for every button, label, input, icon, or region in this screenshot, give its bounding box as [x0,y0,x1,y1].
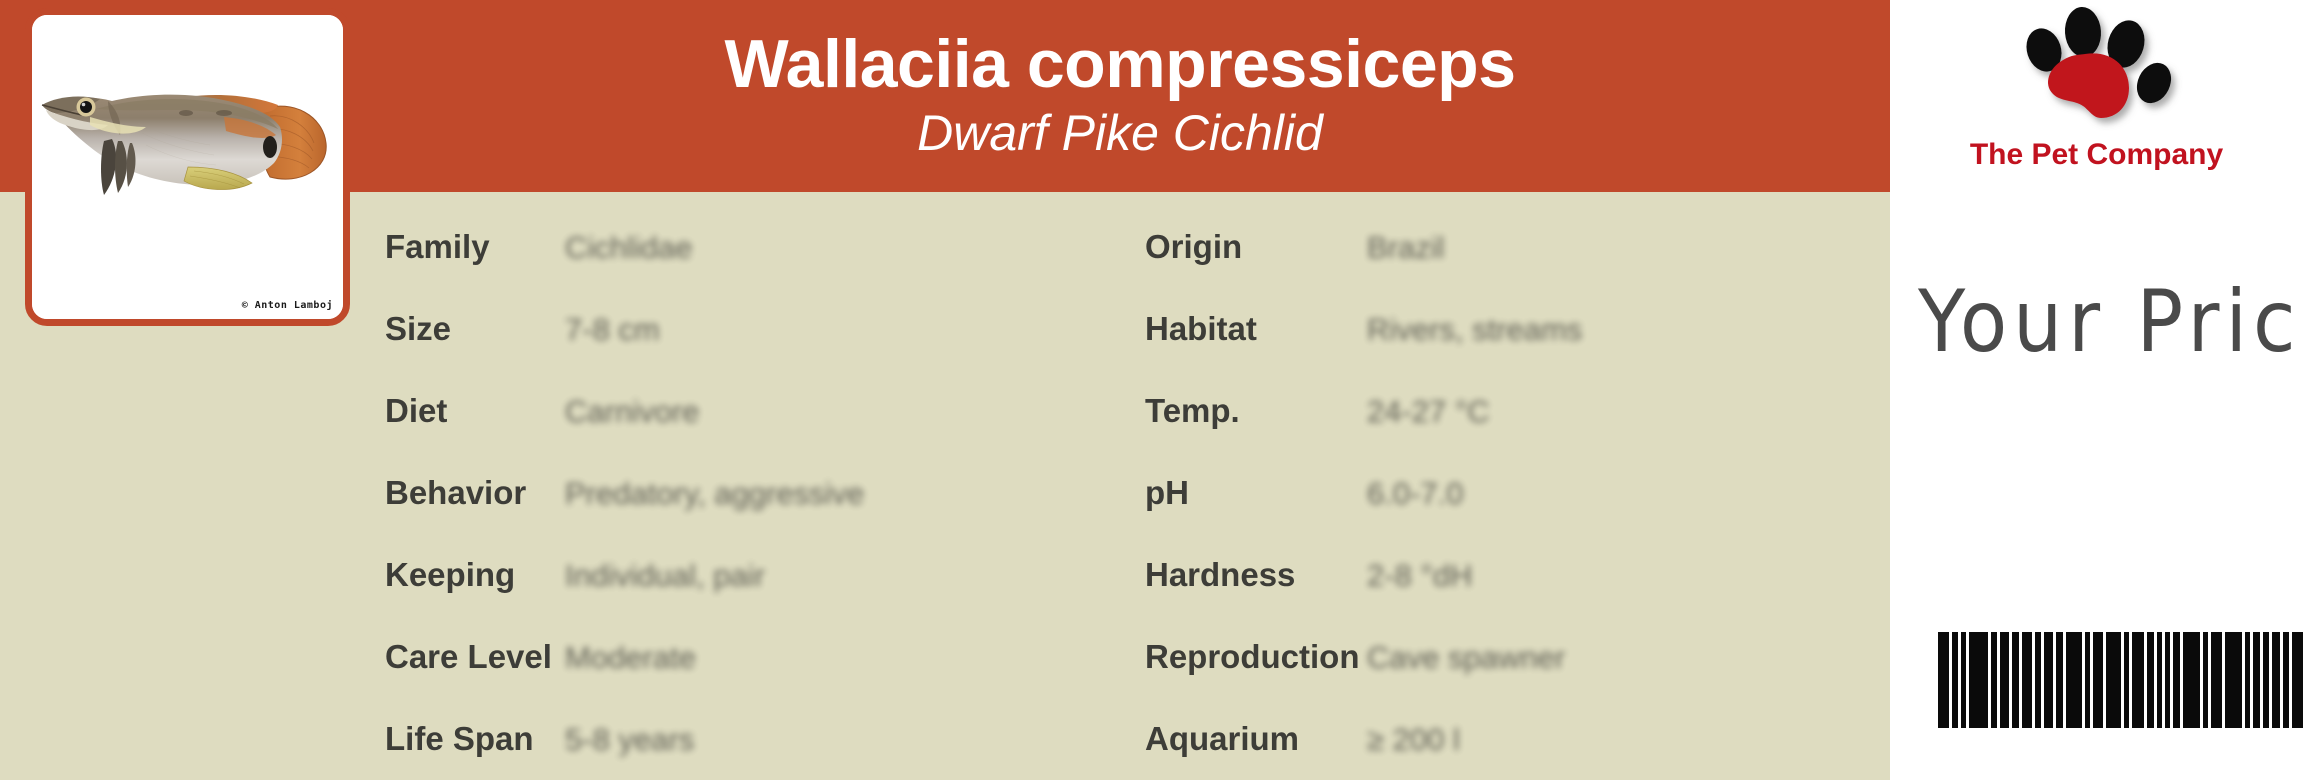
barcode-bar [2245,632,2250,728]
spec-row: Diet Carnivore [385,370,1005,452]
spec-value: Individual, pair [565,535,765,617]
spec-label: Origin [1145,206,1367,288]
spec-row: Size 7-8 cm [385,288,1005,370]
spec-label: Hardness [1145,534,1367,616]
barcode-bar [2157,632,2162,728]
barcode-bar [1961,632,1966,728]
barcode-bar [2272,632,2280,728]
barcode-bar [2132,632,2144,728]
spec-column-right: Origin Brazil Habitat Rivers, streams Te… [1145,192,1865,780]
spec-value: ≥ 200 l [1367,699,1460,781]
spec-value: 6.0-7.0 [1367,453,1464,535]
spec-row: Origin Brazil [1145,206,1865,288]
spec-label: pH [1145,452,1367,534]
barcode-bar [2000,632,2009,728]
barcode-bar [2292,632,2303,728]
spec-label: Temp. [1145,370,1367,452]
spec-row: Hardness 2-8 °dH [1145,534,1865,616]
barcode-bar [2283,632,2289,728]
common-name: Dwarf Pike Cichlid [917,108,1323,158]
spec-row: Family Cichlidae [385,206,1005,288]
barcode-bar [2022,632,2032,728]
header-title-block: Wallaciia compressiceps Dwarf Pike Cichl… [350,0,1890,192]
barcode-bar [2056,632,2063,728]
barcode-bar [2203,632,2208,728]
brand-name: The Pet Company [1890,138,2303,172]
barcode-bar [2085,632,2090,728]
spec-value: 24-27 °C [1367,371,1490,453]
spec-row: Habitat Rivers, streams [1145,288,1865,370]
barcode-bar [2211,632,2222,728]
spec-value: Cichlidae [565,207,693,289]
spec-value: 7-8 cm [565,289,660,371]
spec-value: Carnivore [565,371,699,453]
spec-row: Behavior Predatory, aggressive [385,452,1005,534]
spec-value: Predatory, aggressive [565,453,864,535]
spec-row: Reproduction Cave spawner [1145,616,1865,698]
barcode [1938,632,2303,728]
spec-label: Keeping [385,534,565,616]
spec-value: 5-8 years [565,699,694,781]
spec-label: Diet [385,370,565,452]
barcode-bar [2066,632,2082,728]
price-label: Your Price [1918,272,2303,372]
spec-value: Cave spawner [1367,617,1565,699]
barcode-bar [2253,632,2260,728]
spec-label: Life Span [385,698,565,780]
spec-label: Size [385,288,565,370]
barcode-bar [2035,632,2041,728]
barcode-bar [1969,632,1988,728]
barcode-bar [2173,632,2180,728]
spec-value: Rivers, streams [1367,289,1582,371]
barcode-bar [2044,632,2053,728]
paw-print-icon [2007,6,2187,136]
spec-table: Family Cichlidae Size 7-8 cm Diet Carniv… [0,192,1890,780]
spec-value: Brazil [1367,207,1445,289]
barcode-bar [2263,632,2269,728]
barcode-bar [2106,632,2121,728]
barcode-bar [1938,632,1949,728]
barcode-bar [2093,632,2103,728]
brand-logo: The Pet Company [1890,6,2303,196]
spec-label: Aquarium [1145,698,1367,780]
spec-label: Habitat [1145,288,1367,370]
spec-value: Moderate [565,617,696,699]
spec-label: Family [385,206,565,288]
spec-value: 2-8 °dH [1367,535,1472,617]
spec-label: Reproduction [1145,616,1367,698]
info-panel: Wallaciia compressiceps Dwarf Pike Cichl… [0,0,1890,780]
barcode-bar [2124,632,2129,728]
spec-row: Temp. 24-27 °C [1145,370,1865,452]
spec-row: Life Span 5-8 years [385,698,1005,780]
spec-row: pH 6.0-7.0 [1145,452,1865,534]
pet-shop-fish-label: Wallaciia compressiceps Dwarf Pike Cichl… [0,0,2303,780]
barcode-bar [2165,632,2170,728]
barcode-bar [2012,632,2019,728]
spec-column-left: Family Cichlidae Size 7-8 cm Diet Carniv… [385,192,1005,780]
barcode-bar [1952,632,1958,728]
spec-label: Behavior [385,452,565,534]
spec-label: Care Level [385,616,565,698]
price-panel: The Pet Company Your Price [1890,0,2303,780]
spec-row: Keeping Individual, pair [385,534,1005,616]
scientific-name: Wallaciia compressiceps [724,30,1515,98]
barcode-bar [2147,632,2154,728]
spec-row: Aquarium ≥ 200 l [1145,698,1865,780]
barcode-bar [1991,632,1997,728]
spec-row: Care Level Moderate [385,616,1005,698]
barcode-bar [2183,632,2200,728]
barcode-bar [2225,632,2242,728]
